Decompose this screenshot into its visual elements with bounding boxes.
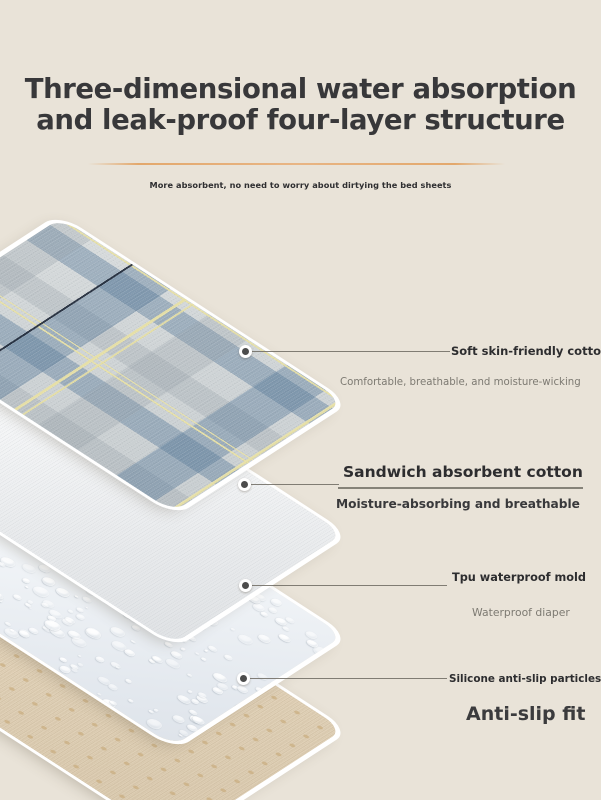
infographic-canvas: Three-dimensional water absorption and l… (0, 0, 601, 800)
page-title: Three-dimensional water absorption and l… (0, 74, 601, 136)
callout-title-2: Sandwich absorbent cotton (343, 463, 583, 481)
callout-description-2: Moisture-absorbing and breathable (336, 497, 580, 511)
callout-leader-line-2 (251, 484, 339, 485)
callout-leader-line-1 (252, 351, 450, 352)
title-divider (88, 163, 505, 165)
callout-description-4: Anti-slip fit (466, 703, 585, 725)
callout-title-3: Tpu waterproof mold (452, 571, 586, 584)
callout-description-3: Waterproof diaper (472, 606, 570, 619)
callout-description-1: Comfortable, breathable, and moisture-wi… (340, 377, 581, 388)
callout-title-4: Silicone anti-slip particles (449, 673, 601, 685)
callout-dot-soft-skin-friendly-cotton[interactable] (239, 345, 252, 358)
page-subtitle: More absorbent, no need to worry about d… (0, 180, 601, 190)
callout-leader-line-3 (252, 585, 447, 586)
callout-leader-line-4 (250, 678, 447, 679)
callout-title-1: Soft skin-friendly cotton (451, 344, 601, 358)
callout-dot-sandwich-absorbent-cotton[interactable] (238, 478, 251, 491)
callout-underline-2 (338, 487, 583, 489)
callout-dot-silicone-anti-slip-particles[interactable] (237, 672, 250, 685)
callout-dot-tpu-waterproof-mold[interactable] (239, 579, 252, 592)
